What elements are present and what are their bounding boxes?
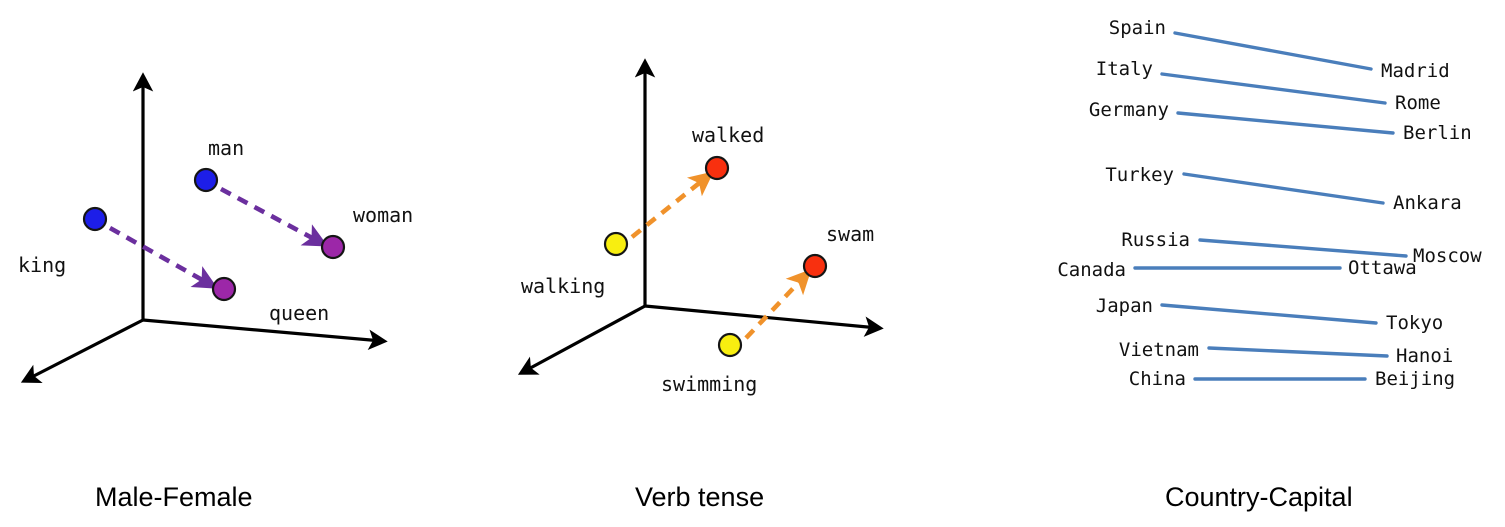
panel-male-female: king man queen woman Male-Female <box>0 0 470 527</box>
point-swam[interactable] <box>804 255 826 277</box>
label-woman: woman <box>353 203 413 227</box>
label-capital-ankara: Ankara <box>1393 192 1462 214</box>
caption-male-female: Male-Female <box>95 482 253 513</box>
label-country-china: China <box>1129 368 1186 390</box>
point-swimming[interactable] <box>719 334 741 356</box>
axis-group <box>523 64 878 372</box>
analogy-vectors <box>110 189 316 282</box>
link-turkey-ankara <box>1184 174 1383 203</box>
country-capital-diagram: Spain Italy Germany Turkey Russia Canada… <box>950 0 1505 470</box>
axis-z <box>26 320 143 380</box>
axis-group <box>26 78 382 380</box>
label-capital-tokyo: Tokyo <box>1386 312 1443 334</box>
panel-verb-tense: walking walked swimming swam Verb tense <box>470 0 950 527</box>
vector-king-to-queen <box>110 228 206 282</box>
caption-verb-tense: Verb tense <box>635 482 764 513</box>
point-woman[interactable] <box>322 236 344 258</box>
point-queen[interactable] <box>213 278 235 300</box>
label-country-italy: Italy <box>1096 58 1153 80</box>
axis-z <box>523 306 645 372</box>
panel-country-capital: Spain Italy Germany Turkey Russia Canada… <box>950 0 1505 527</box>
capital-labels: Madrid Rome Berlin Ankara Moscow Ottawa … <box>1348 60 1482 390</box>
link-germany-berlin <box>1178 113 1393 133</box>
label-swam: swam <box>826 222 874 246</box>
embedding-points <box>605 157 826 356</box>
link-japan-tokyo <box>1162 305 1376 323</box>
label-capital-beijing: Beijing <box>1375 368 1455 390</box>
label-capital-hanoi: Hanoi <box>1396 345 1453 367</box>
label-country-spain: Spain <box>1109 17 1166 39</box>
point-man[interactable] <box>195 169 217 191</box>
vector-man-to-woman <box>221 189 316 240</box>
label-country-japan: Japan <box>1096 295 1153 317</box>
vector-walking-to-walked <box>632 180 703 237</box>
caption-country-capital: Country-Capital <box>1165 482 1353 513</box>
label-swimming: swimming <box>661 372 757 396</box>
label-capital-berlin: Berlin <box>1403 122 1472 144</box>
label-country-germany: Germany <box>1089 99 1169 121</box>
link-vietnam-hanoi <box>1209 348 1387 356</box>
axis-x <box>143 320 382 341</box>
label-country-turkey: Turkey <box>1105 164 1174 186</box>
country-labels: Spain Italy Germany Turkey Russia Canada… <box>1057 17 1199 390</box>
label-capital-moscow: Moscow <box>1413 245 1482 267</box>
label-capital-rome: Rome <box>1395 92 1441 114</box>
label-walked: walked <box>692 123 764 147</box>
link-spain-madrid <box>1175 33 1371 69</box>
label-country-russia: Russia <box>1121 229 1190 251</box>
word-embedding-analogy-figure: king man queen woman Male-Female <box>0 0 1505 527</box>
label-walking: walking <box>521 274 605 298</box>
label-man: man <box>208 136 244 160</box>
link-russia-moscow <box>1200 240 1406 256</box>
label-capital-madrid: Madrid <box>1381 60 1450 82</box>
link-italy-rome <box>1162 74 1385 103</box>
verb-tense-diagram: walking walked swimming swam <box>470 0 950 470</box>
label-country-vietnam: Vietnam <box>1119 339 1199 361</box>
label-king: king <box>18 253 66 277</box>
point-walking[interactable] <box>605 233 627 255</box>
label-queen: queen <box>269 301 329 325</box>
label-capital-ottawa: Ottawa <box>1348 257 1417 279</box>
country-capital-links <box>1135 33 1406 379</box>
vector-swimming-to-swam <box>746 279 802 338</box>
point-walked[interactable] <box>706 157 728 179</box>
label-country-canada: Canada <box>1057 259 1126 281</box>
point-king[interactable] <box>84 208 106 230</box>
male-female-diagram: king man queen woman <box>0 0 470 470</box>
